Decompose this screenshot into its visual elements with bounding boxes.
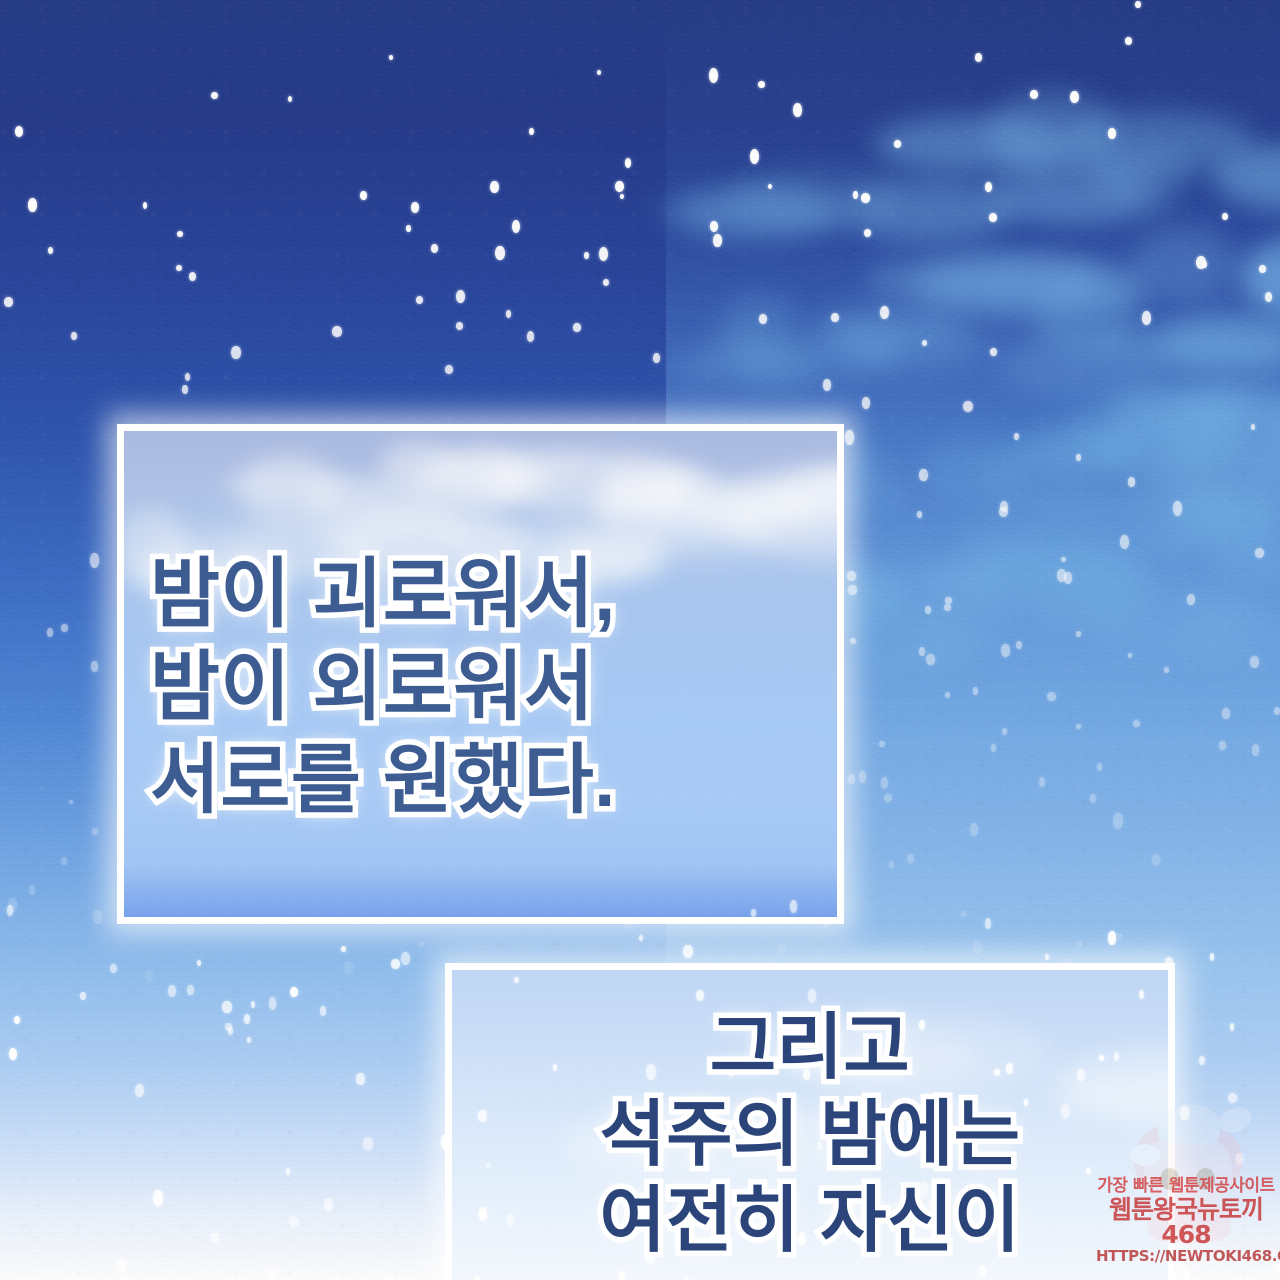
watermark-url[interactable]: HTTPS://NEWTOKI468.COM (1096, 1249, 1276, 1264)
watermark-tagline: 가장 빠른 웹툰제공사이트 (1096, 1178, 1276, 1195)
panel-top (117, 424, 844, 924)
watermark-text: 가장 빠른 웹툰제공사이트 웹툰왕국뉴토끼468 HTTPS://NEWTOKI… (1096, 1178, 1276, 1264)
webtoon-page: 밤이 괴로워서, 밤이 외로워서 서로를 원했다. 그리고 석주의 밤에는 여전… (0, 0, 1280, 1280)
site-watermark: 가장 빠른 웹툰제공사이트 웹툰왕국뉴토끼468 HTTPS://NEWTOKI… (1096, 1098, 1276, 1278)
panel-bottom (445, 963, 1175, 1280)
watermark-site-name: 웹툰왕국뉴토끼468 (1096, 1197, 1276, 1248)
mascot-hat (1158, 1104, 1220, 1144)
mascot-bow (1130, 1144, 1160, 1166)
